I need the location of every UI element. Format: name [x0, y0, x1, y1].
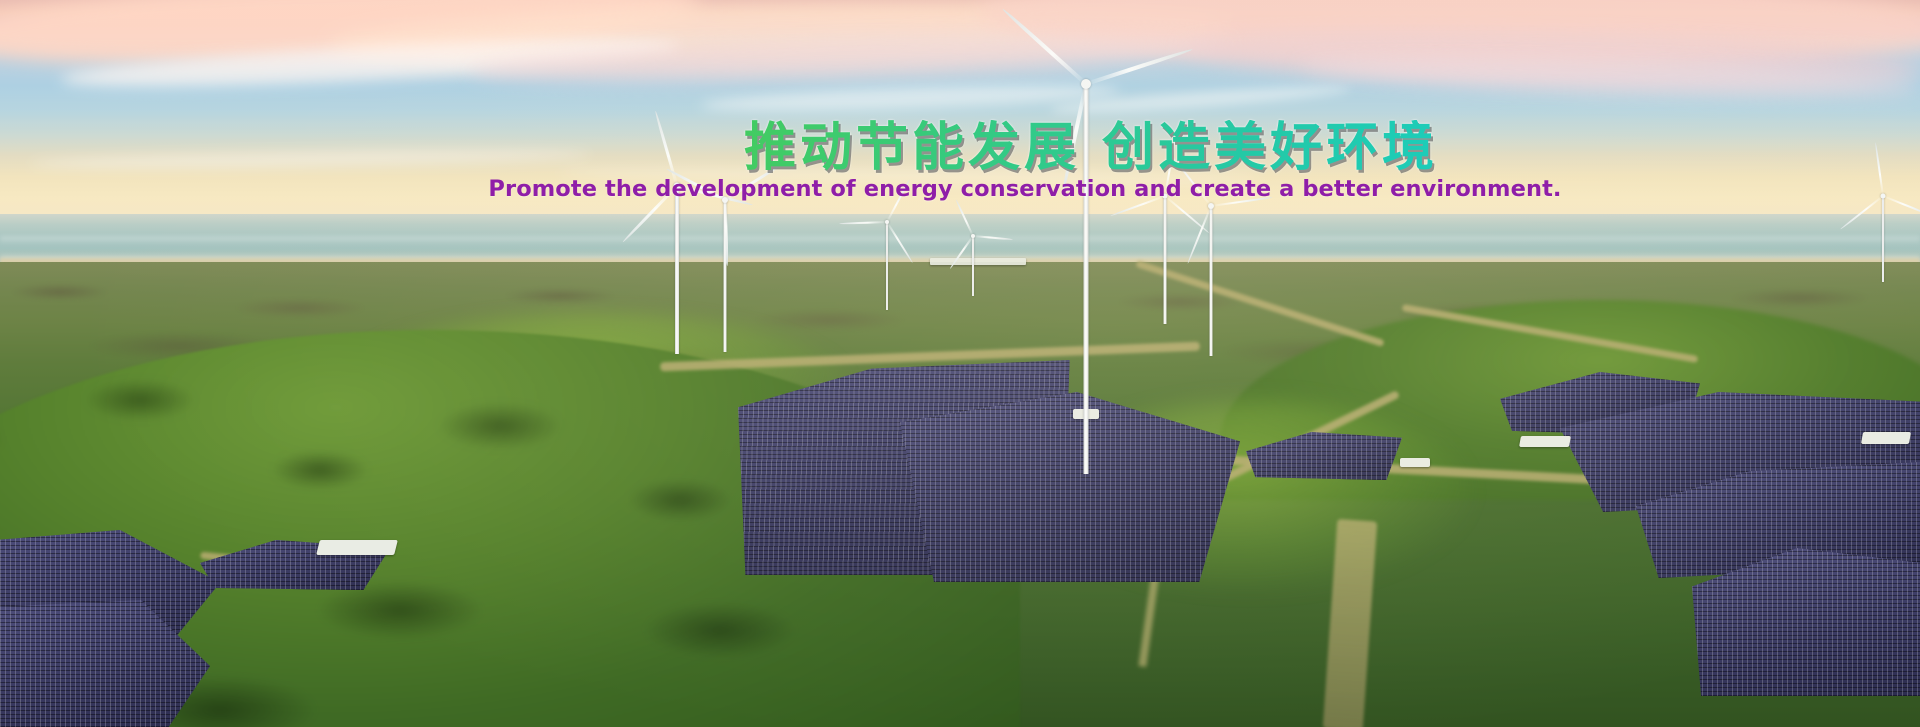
cloud-wisp-icon	[1300, 49, 1920, 105]
cloud-wisp-icon	[1050, 82, 1350, 118]
banner-subtitle-english: Promote the development of energy conser…	[0, 176, 1920, 202]
service-building	[1861, 432, 1911, 444]
cloud-wisp-icon	[1179, 24, 1920, 97]
cloud-wisp-icon	[700, 81, 1120, 116]
ocean-shimmer	[0, 236, 1920, 245]
service-building	[316, 540, 398, 555]
cloud-wisp-icon	[979, 0, 1920, 76]
banner-headline-chinese: 推动节能发展 创造美好环境	[0, 120, 1920, 177]
service-building	[930, 258, 1026, 265]
cloud-wisp-icon	[470, 25, 1231, 91]
hero-banner: 推动节能发展 创造美好环境 Promote the development of…	[0, 0, 1920, 727]
cloud-wisp-icon	[329, 0, 1230, 75]
service-building	[1400, 458, 1430, 467]
cloud-wisp-icon	[0, 0, 701, 77]
service-building	[1073, 409, 1099, 419]
cloud-wisp-icon	[60, 30, 681, 96]
service-building	[1519, 436, 1571, 447]
